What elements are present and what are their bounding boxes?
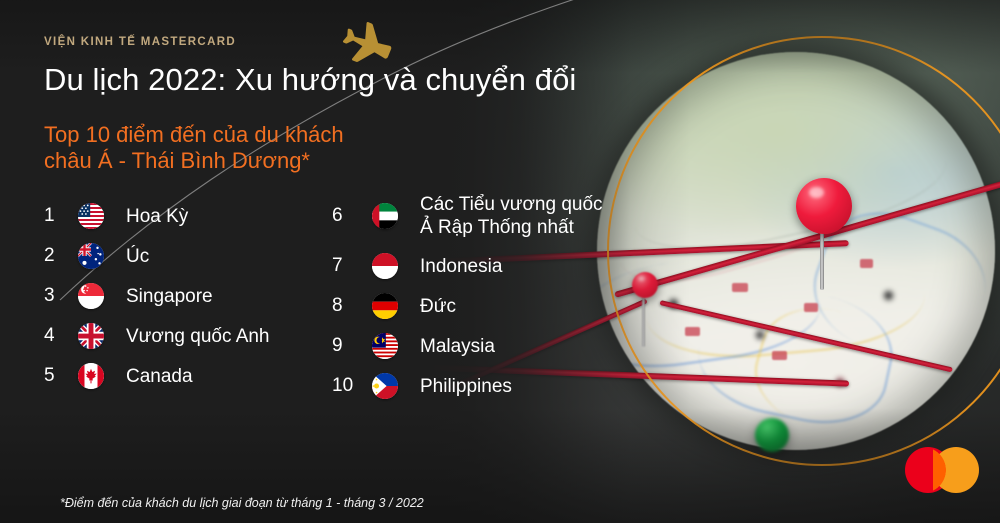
country-name: Indonesia bbox=[420, 255, 502, 278]
country-name: Các Tiểu vương quốc Ả Rập Thống nhất bbox=[420, 193, 603, 239]
flag-united-arab-emirates bbox=[372, 203, 398, 229]
list-item: 1 Hoa Kỳ bbox=[44, 196, 344, 236]
rank-number: 9 bbox=[332, 335, 372, 357]
flag-philippines bbox=[372, 373, 398, 399]
list-item: 3 Singapore bbox=[44, 276, 344, 316]
list-item: 4 Vương quốc Anh bbox=[44, 316, 344, 356]
page-title: Du lịch 2022: Xu hướng và chuyển đổi bbox=[44, 62, 576, 98]
list-item: 10 Philippines bbox=[332, 366, 642, 406]
flag-united-states bbox=[78, 203, 104, 229]
country-name: Đức bbox=[420, 295, 456, 318]
rank-number: 10 bbox=[332, 375, 372, 397]
mastercard-overlap bbox=[933, 447, 951, 493]
list-item: 6 Các Tiểu vương quốc Ả Rập Thống nhất bbox=[332, 186, 642, 246]
rank-number: 1 bbox=[44, 205, 78, 227]
rank-number: 3 bbox=[44, 285, 78, 307]
content-layer: VIỆN KINH TẾ MASTERCARD Du lịch 2022: Xu… bbox=[0, 0, 1000, 523]
rank-number: 2 bbox=[44, 245, 78, 267]
country-name: Singapore bbox=[126, 285, 213, 308]
list-item: 8 Đức bbox=[332, 286, 642, 326]
mastercard-logo bbox=[905, 447, 979, 493]
flag-canada bbox=[78, 363, 104, 389]
list-item: 5 Canada bbox=[44, 356, 344, 396]
ranking-column-right: 6 Các Tiểu vương quốc Ả Rập Thống nhất 7… bbox=[332, 186, 642, 406]
brand-eyebrow: VIỆN KINH TẾ MASTERCARD bbox=[44, 36, 236, 48]
rank-number: 4 bbox=[44, 325, 78, 347]
country-name: Vương quốc Anh bbox=[126, 325, 270, 348]
country-name: Philippines bbox=[420, 375, 512, 398]
rank-number: 5 bbox=[44, 365, 78, 387]
flag-germany bbox=[372, 293, 398, 319]
list-item: 9 Malaysia bbox=[332, 326, 642, 366]
country-name: Canada bbox=[126, 365, 193, 388]
rank-number: 7 bbox=[332, 255, 372, 277]
rank-number: 6 bbox=[332, 205, 372, 227]
infographic-poster: VIỆN KINH TẾ MASTERCARD Du lịch 2022: Xu… bbox=[0, 0, 1000, 523]
flag-malaysia bbox=[372, 333, 398, 359]
footnote-text: *Điểm đến của khách du lịch giai đoạn từ… bbox=[60, 496, 424, 510]
ranking-column-left: 1 Hoa Kỳ 2 bbox=[44, 196, 344, 396]
flag-singapore bbox=[78, 283, 104, 309]
flag-australia bbox=[78, 243, 104, 269]
rank-number: 8 bbox=[332, 295, 372, 317]
flag-united-kingdom bbox=[78, 323, 104, 349]
country-name: Malaysia bbox=[420, 335, 495, 358]
country-name: Hoa Kỳ bbox=[126, 205, 188, 228]
country-name: Úc bbox=[126, 245, 149, 268]
flag-indonesia bbox=[372, 253, 398, 279]
list-item: 2 Úc bbox=[44, 236, 344, 276]
list-item: 7 Indonesia bbox=[332, 246, 642, 286]
page-subtitle: Top 10 điểm đến của du khách châu Á - Th… bbox=[44, 122, 344, 174]
